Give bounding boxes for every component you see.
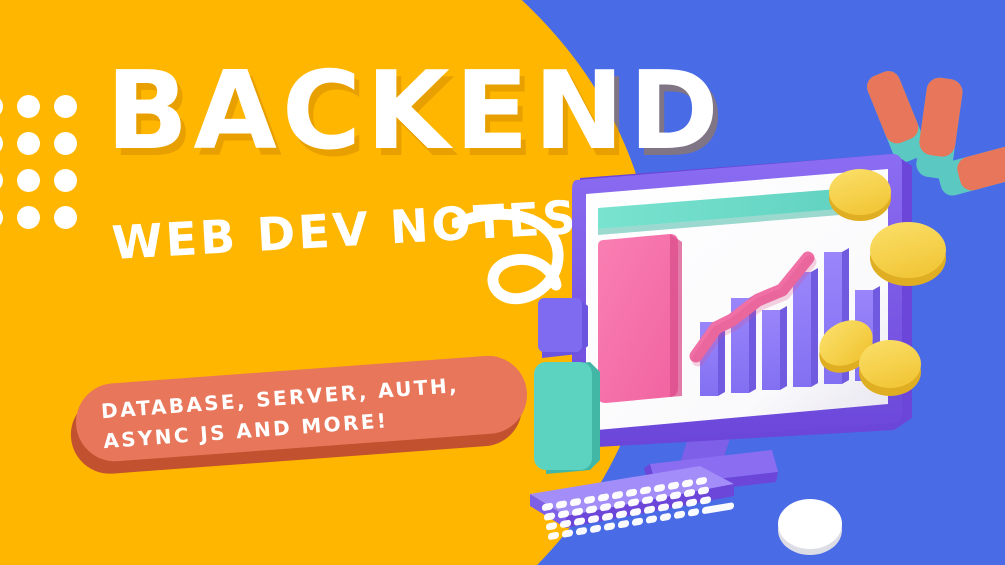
- screen-pink-panel: [598, 234, 682, 403]
- keyboard: [530, 466, 734, 541]
- coin: [859, 340, 921, 396]
- coin: [870, 222, 946, 286]
- coin: [829, 169, 891, 221]
- dot-grid-icon: [0, 95, 90, 230]
- purple-square-card: [538, 298, 588, 358]
- desktop-computer-analytics-illustration: [520, 150, 990, 565]
- bar-item: [762, 306, 787, 390]
- mouse: [778, 499, 842, 555]
- teal-rounded-card: [534, 362, 600, 474]
- poster-canvas: BACKEND WEB DEV NOTES DATABASE, SERVER, …: [0, 0, 1005, 565]
